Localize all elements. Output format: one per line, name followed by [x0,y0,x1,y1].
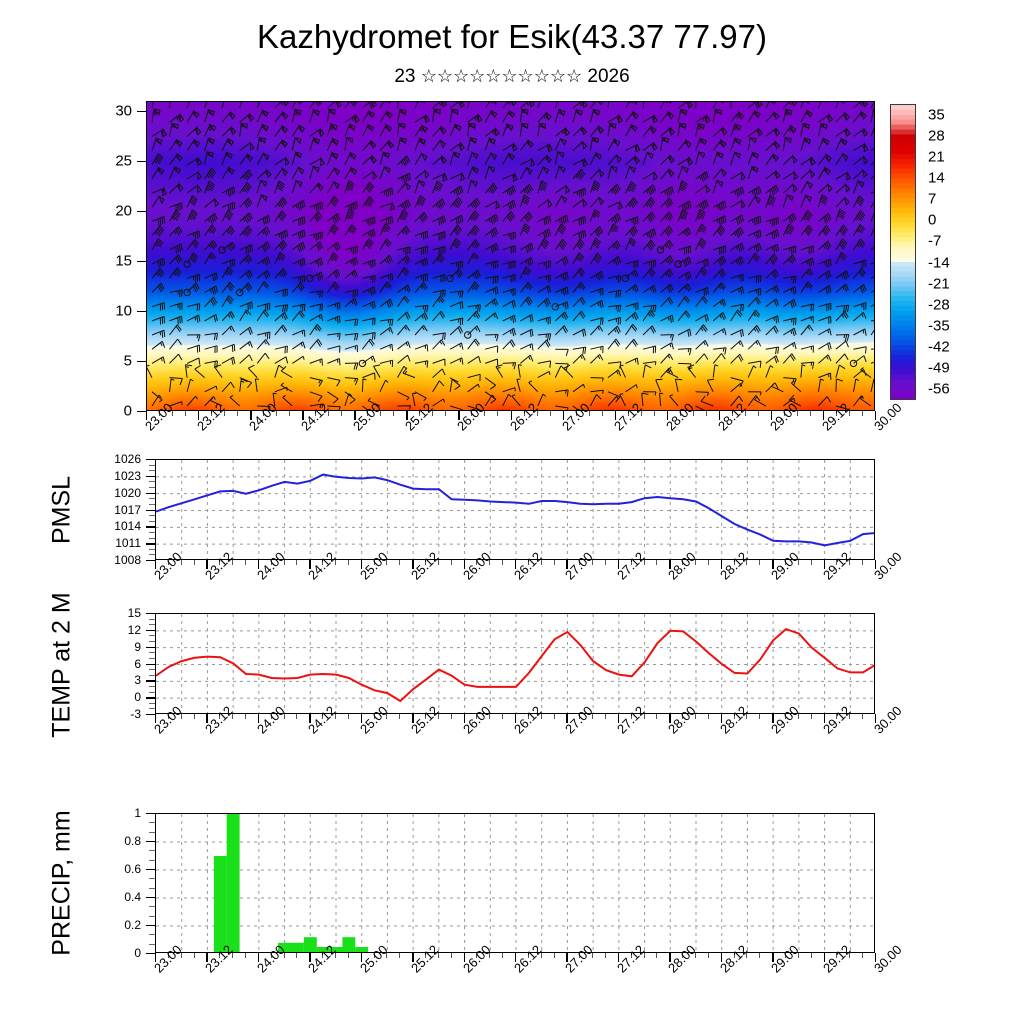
precip-y-minor-tick [149,860,155,861]
precip-y-label: 0 [75,946,141,960]
precip-bar [291,943,304,953]
precip-bar [304,937,317,953]
precip-bar [227,814,240,953]
meteogram-page: Kazhydromet for Esik(43.37 77.97) 23 ☆☆☆… [0,0,1024,1024]
precip-y-minor-tick [149,888,155,889]
precip-x-minor-tick [554,953,555,958]
precip-x-minor-tick [862,953,863,958]
precip-x-minor-tick [348,953,349,958]
precip-x-minor-tick [194,953,195,958]
precip-y-label: 0.8 [75,834,141,848]
precip-x-minor-tick [759,953,760,958]
precip-x-minor-tick [708,953,709,958]
precip-y-tick [146,897,155,898]
precip-bar [342,937,355,953]
precip-x-minor-tick [296,953,297,958]
precip-y-minor-tick [149,916,155,917]
precip-x-minor-tick [245,953,246,958]
precip-plot[interactable] [155,813,875,953]
precip-x-label: 30.00 [871,942,905,976]
precip-panel: PRECIP, mm 23.0023.1224.0024.1225.0025.1… [0,0,1024,1024]
precip-y-label: 1 [75,806,141,820]
precip-y-minor-tick [149,832,155,833]
precip-bar [240,952,253,953]
precip-x-minor-tick [605,953,606,958]
precip-x-minor-tick [811,953,812,958]
precip-y-label: 0.4 [75,890,141,904]
precip-bar [214,856,227,953]
precip-y-minor-tick [149,934,155,935]
precip-y-minor-tick [149,822,155,823]
precip-y-tick [146,841,155,842]
precip-x-minor-tick [656,953,657,958]
precip-y-minor-tick [149,944,155,945]
precip-axis-title: PRECIP, mm [48,810,77,955]
precip-x-minor-tick [451,953,452,958]
precip-y-tick [146,953,155,954]
precip-y-minor-tick [149,878,155,879]
precip-y-label: 0.6 [75,862,141,876]
precip-y-minor-tick [149,850,155,851]
precip-x-minor-tick [399,953,400,958]
precip-y-tick [146,925,155,926]
precip-y-minor-tick [149,906,155,907]
precip-x-minor-tick [502,953,503,958]
precip-y-label: 0.2 [75,918,141,932]
precip-y-tick [146,869,155,870]
precip-bars [156,814,875,953]
precip-y-tick [146,813,155,814]
